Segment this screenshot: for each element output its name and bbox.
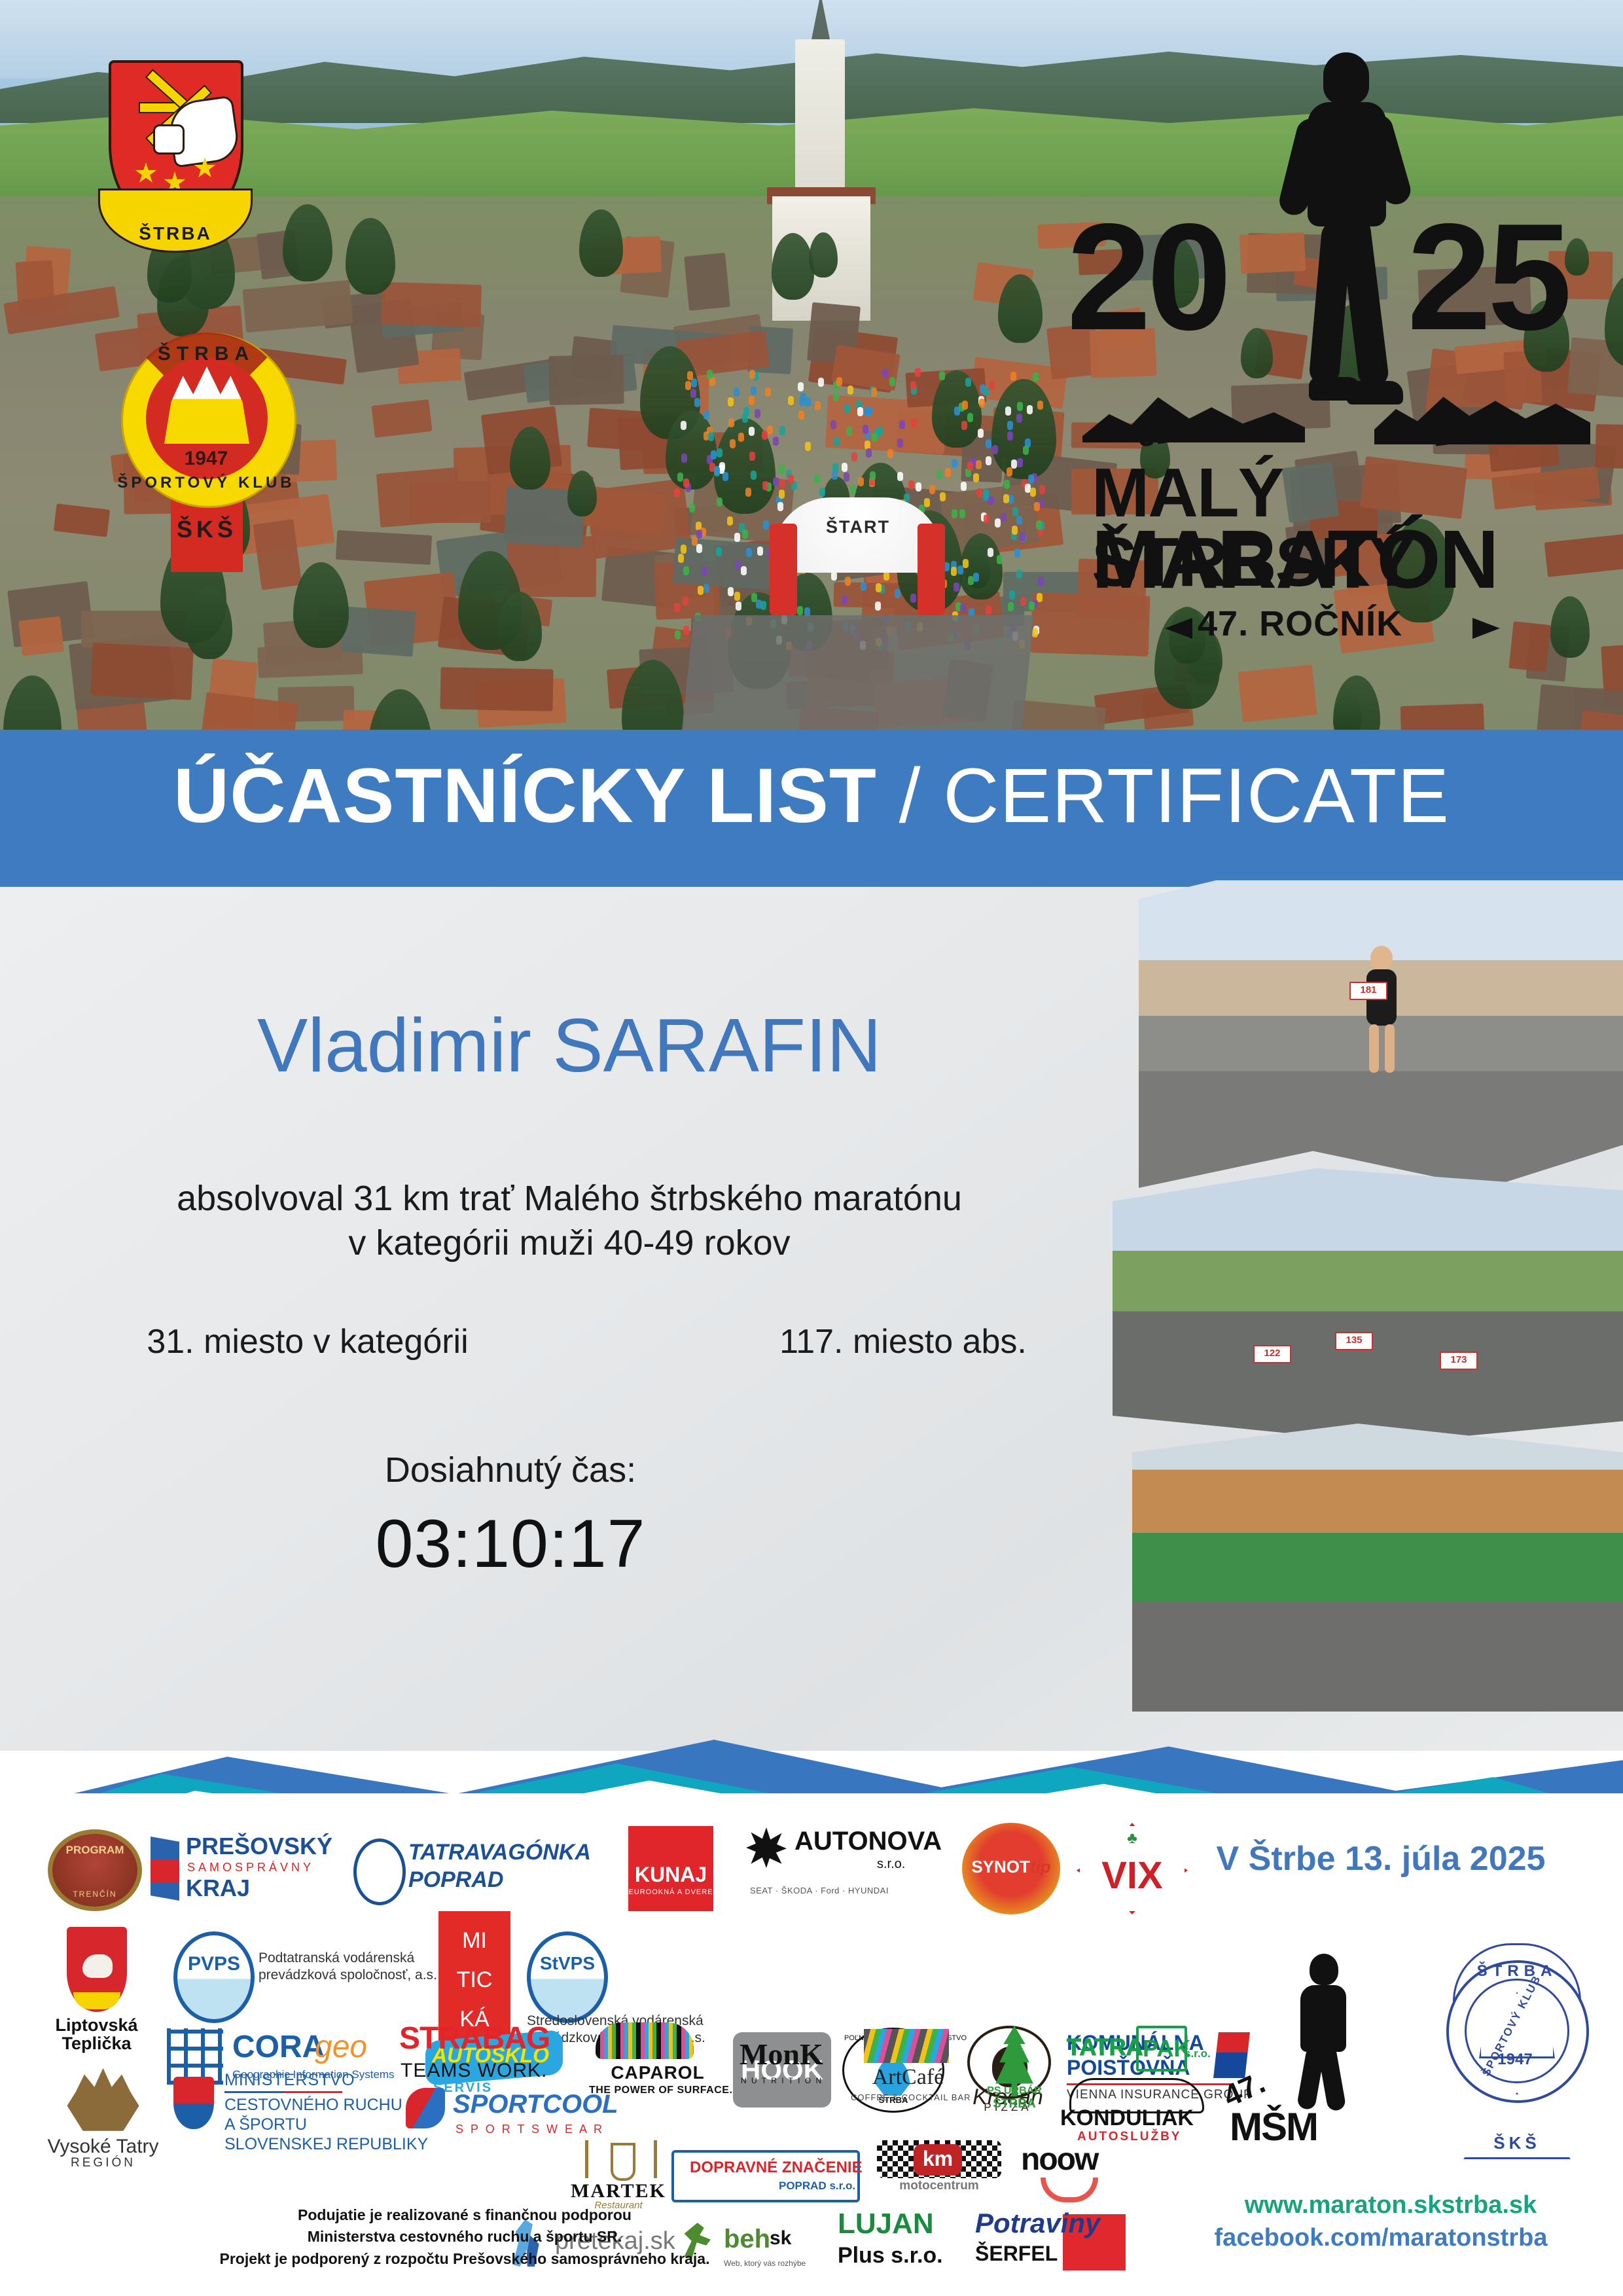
crowd-runner [717, 497, 722, 507]
crowd-runner [876, 583, 882, 592]
sponsor-oval-mark: PROGRAMTRENČÍN [48, 1829, 142, 1911]
crowd-runner [988, 496, 994, 505]
crowd-runner [762, 481, 768, 490]
crowd-runner [728, 587, 734, 596]
crowd-runner [846, 427, 852, 436]
crowd-runner [742, 529, 748, 539]
crowd-runner [704, 410, 709, 420]
crowd-runner [1029, 601, 1035, 611]
crowd-runner [683, 566, 689, 575]
crowd-runner [995, 518, 1001, 528]
crowd-runner [858, 477, 864, 486]
crowd-runner [997, 555, 1003, 564]
crowd-runner [910, 381, 916, 390]
crowd-runner [805, 397, 811, 406]
sponsor-name: Liptovská [55, 2016, 137, 2034]
sponsor-logo-sportcool-sportswear: SPORTCOOLS P O R T S W E A R [406, 2088, 569, 2150]
sks-bottom-tab: ŠKŠ [171, 500, 243, 572]
crowd-runner [984, 514, 990, 524]
crowd-runner [742, 414, 748, 423]
crowd-runner [745, 488, 751, 497]
crowd-runner [976, 488, 982, 497]
banner-title: ÚČASTNÍCKY LIST / CERTIFICATE [0, 751, 1623, 840]
crowd-runner [910, 594, 916, 603]
rooftop [684, 253, 730, 311]
crowd-runner [1008, 602, 1014, 611]
sponsor-name: STRABAG [399, 2022, 550, 2055]
crowd-runner [962, 401, 968, 410]
crowd-runner [1004, 480, 1010, 489]
sponsor-name-part: TIC [438, 1969, 510, 1992]
crest-shield [67, 1927, 127, 2012]
crowd-runner [961, 421, 967, 430]
sponsor-subtitle: AUTOSLUŽBY [1077, 2130, 1181, 2144]
sponsor-subtitle: ŠTRBA [969, 2098, 1060, 2111]
sponsor-logo-program-trencin: PROGRAMTRENČÍN [52, 1829, 137, 1911]
sponsor-subtitle: N U T R I T I O N [741, 2077, 823, 2085]
swoosh-icon [406, 2088, 445, 2128]
crowd-runner [704, 584, 709, 593]
achievement-line-2: v kategórii muži 40-49 rokov [39, 1223, 1099, 1263]
funding-note-line: Projekt je podporený z rozpočtu Prešovsk… [39, 2248, 890, 2270]
crowd-runner [833, 392, 839, 401]
crowd-runner [847, 386, 853, 395]
sponsor-subtitle: SAMOSPRÁVNY [187, 1861, 314, 1874]
crowd-runner [978, 429, 984, 438]
sponsor-logo-pvps: PVPSPodtatranská vodárenskáprevádzková s… [173, 1928, 409, 2029]
cutlery-icon [585, 2140, 657, 2178]
crowd-runner [728, 418, 734, 427]
crowd-runner [1023, 446, 1029, 455]
crowd-runner [1016, 414, 1022, 423]
crowd-runner [696, 544, 702, 553]
seal-bottom-label: ŠKŠ [1465, 2133, 1569, 2153]
banner-title-bold: ÚČASTNÍCKY LIST [173, 753, 877, 839]
crowd-runner [683, 626, 689, 635]
crowd-runner [746, 548, 752, 557]
crowd-runner [683, 478, 689, 488]
sponsor-logo-stvps: StVPSStredoslovenská vodárenskáprevádzko… [527, 1928, 743, 2032]
sponsor-name: Vysoké Tatry [47, 2136, 158, 2157]
smile-icon [1041, 2178, 1098, 2202]
crest-ribbon: ŠTRBA [98, 188, 253, 253]
crowd-runner [986, 605, 991, 615]
crowd-runner [877, 427, 883, 436]
sponsor-subtitle: TEAMS WORK. [401, 2060, 547, 2081]
runner-icon [1286, 1954, 1358, 2104]
event-date: V Štrbe 13. júla 2025 [1171, 1839, 1590, 1878]
red-box: KUNAJEUROOKNÁ A DVERE [628, 1826, 713, 1911]
crowd-runner [916, 482, 921, 492]
sponsor-name: MARTEK [563, 2181, 674, 2202]
sponsor-name: AUTONOVA [794, 1827, 942, 1855]
crowd-runner [1039, 485, 1045, 494]
funding-note: Podujatie je realizované s finančnou pod… [39, 2204, 890, 2270]
photo-finish-line [1132, 1424, 1623, 1712]
crowd-runner [698, 586, 704, 595]
crowd-runner [1037, 593, 1043, 602]
crowd-runner [939, 371, 945, 380]
crowd-runner [961, 482, 967, 491]
crowd-runner [845, 577, 851, 586]
facebook-url[interactable]: facebook.com/maratonstrba [1152, 2224, 1610, 2252]
sponsor-subtitle-2: A ŠPORTU [224, 2116, 307, 2133]
crowd-runner [851, 452, 857, 461]
sponsor-name: MINISTERSTVO [224, 2072, 355, 2089]
crowd-runner [751, 593, 757, 602]
crowd-runner [1038, 577, 1044, 586]
crowd-runner [818, 378, 824, 387]
crowd-runner [685, 381, 691, 390]
oval-emblem [353, 1839, 406, 1905]
crowd-runner [1027, 405, 1033, 414]
sponsor-subtitle-2: KRAJ [186, 1876, 250, 1901]
crowd-runner [678, 554, 684, 563]
crowd-runner [929, 485, 935, 494]
achievement-line-1: absolvoval 31 km trať Malého štrbského m… [39, 1178, 1099, 1219]
sponsor-logo-vysoke-tatry-region: Vysoké TatryREGIÓN [46, 2058, 160, 2179]
website-url[interactable]: www.maraton.skstrba.sk [1171, 2191, 1610, 2219]
crowd-runner [830, 420, 836, 429]
crowd-runner [863, 425, 868, 434]
crowd-runner [779, 426, 785, 435]
sponsor-name: PVPS [177, 1954, 251, 1975]
arrow-left-icon [1165, 618, 1192, 639]
sks-year: 1947 [108, 448, 304, 470]
place-in-category: 31. miesto v kategórii [79, 1322, 537, 1361]
crowd-runner [992, 445, 998, 454]
crowd-runner [965, 378, 971, 387]
certificate-page: ŠTART ŠTRBA ŠKŠ ŠTRBA 1947 ŠPORTOVÝ KLUB… [0, 0, 1623, 2296]
sponsor-name: MonK [740, 2039, 823, 2070]
crowd-runner [767, 425, 773, 435]
sponsor-subtitle: EUROOKNÁ A DVERE [628, 1889, 713, 1897]
crowd-runner [870, 471, 876, 480]
sponsor-logo-strabag: STRABAGTEAMS WORK. [399, 2022, 563, 2094]
sponsor-name: VIX [1080, 1856, 1185, 1896]
crowd-runner [1005, 406, 1011, 416]
crowd-runner [831, 571, 837, 581]
marathon-name-line2: MARATÓN [1092, 518, 1498, 601]
time-label: Dosiahnutý čas: [183, 1450, 838, 1490]
sponsor-name-part: MI [438, 1929, 510, 1953]
crowd-runner [924, 498, 930, 507]
crowd-runner [908, 480, 914, 490]
seal-year: 1947 [1433, 2051, 1597, 2069]
sks-club-logo: ŠKŠ ŠTRBA 1947 ŠPORTOVÝ KLUB [108, 306, 304, 568]
crowd-runner [716, 547, 722, 556]
sponsor-name: TATRAVAGÓNKA [408, 1841, 591, 1865]
crowd-runner [1007, 431, 1013, 440]
funding-note-line: Ministerstva cestovného ruchu a športu S… [39, 2226, 890, 2248]
crowd-runner [1009, 590, 1015, 600]
crowd-runner [1017, 402, 1023, 411]
rooftop [372, 399, 433, 438]
crest-base [73, 1992, 120, 2009]
sponsor-subtitle-2: s.r.o. [1185, 2048, 1211, 2060]
sponsor-logo-dopravne-znacenie-poprad: DOPRAVNÉ ZNAČENIEPOPRAD s.r.o. [674, 2150, 857, 2202]
sks-seal-logo: ŠTRBA 1947 ŠPORTOVÝ KLUB ŠKŠ [1433, 1941, 1597, 2163]
crowd-runner [788, 475, 794, 484]
crowd-runner [694, 398, 700, 407]
sponsor-logo-tatravagonka-poprad: TATRAVAGÓNKAPOPRAD [353, 1836, 543, 1901]
sponsor-subtitle-3: SLOVENSKEJ REPUBLIKY [224, 2136, 428, 2153]
sponsor-logo-synottip: SYNOTtip [962, 1823, 1060, 1914]
start-gate-label: ŠTART [826, 517, 890, 537]
crowd-runner [779, 490, 785, 499]
crowd-runner [763, 520, 769, 529]
crowd-runner [1037, 401, 1043, 410]
photo-collage: 181 122 135 173 [1113, 880, 1623, 1712]
bib-number: 181 [1349, 982, 1387, 1000]
crowd-runner [959, 509, 965, 518]
crowd-runner [895, 589, 901, 598]
main-road [681, 615, 1034, 743]
crowd-runner [677, 473, 683, 482]
crowd-runner [674, 488, 680, 497]
crowd-runner [973, 573, 979, 582]
crowd-runner [899, 420, 905, 429]
finish-time-value: 03:10:17 [183, 1505, 838, 1583]
crowd-runner [727, 516, 733, 526]
sponsor-logo-kunaj: KUNAJEUROOKNÁ A DVERE [628, 1826, 713, 1911]
crowd-runner [711, 450, 717, 459]
crowd-runner [844, 404, 850, 413]
crowd-runner [728, 397, 734, 406]
marathon-edition: 47. ROČNÍK [1198, 603, 1402, 644]
crowd-runner [805, 442, 811, 451]
sponsor-subtitle: PAK [1143, 2036, 1190, 2061]
sponsor-logo-martek-restaurant: MARTEKRestaurant [563, 2140, 674, 2212]
crowd-runner [762, 431, 768, 440]
crowd-runner [832, 471, 838, 480]
starburst-icon [746, 1827, 787, 1868]
participant-name: Vladimir SARAFIN [39, 1001, 1099, 1089]
crowd-runner [967, 461, 973, 471]
marathon-logo: 20 25 31 km 10 km MALÝ ŠTRBSKÝ MARATÓN 4… [1067, 46, 1616, 609]
crowd-runner [940, 492, 946, 501]
crowd-runner [1020, 597, 1026, 606]
crowd-runner [777, 502, 783, 511]
crowd-runner [779, 465, 785, 474]
sponsor-logo-ministerstvo: MINISTERSTVOCESTOVNÉHO RUCHUA ŠPORTUSLOV… [173, 2072, 396, 2157]
crowd-runner [815, 401, 821, 410]
banner-title-regular: CERTIFICATE [943, 753, 1450, 839]
crowd-runner [797, 606, 803, 615]
crowd-runner [986, 439, 991, 448]
photo-finisher: 181 [1139, 880, 1623, 1188]
sponsor-name: ArtCafé [851, 2066, 965, 2089]
rooftop [18, 617, 63, 656]
sponsor-subtitle: tip [1030, 1857, 1051, 1876]
crowd-runner [702, 567, 707, 576]
crowd-runner [945, 468, 951, 477]
crowd-runner [734, 533, 740, 542]
crowd-runner [1001, 512, 1007, 522]
sponsor-name: CORA [232, 2031, 325, 2064]
sponsor-subtitle: POPRAD [408, 1869, 503, 1892]
crowd-runner [760, 601, 766, 610]
lamb-icon [82, 1954, 113, 1978]
rooftop [381, 282, 482, 327]
crowd-runner [751, 386, 757, 395]
sks-abbrev: ŠKŠ [171, 516, 243, 543]
crowd-runner [973, 473, 979, 482]
crowd-runner [814, 475, 820, 484]
crowd-runner [952, 459, 957, 468]
crowd-runner [690, 389, 696, 398]
msm-edition-logo: 47. MŠM [1214, 1947, 1410, 2163]
arrow-right-icon [1472, 618, 1500, 639]
crowd-runner [683, 596, 688, 605]
photo-uphill-group: 122 135 173 [1113, 1168, 1623, 1443]
crowd-runner [1007, 467, 1012, 476]
crowd-runner [1007, 421, 1013, 430]
crowd-runner [1003, 494, 1009, 503]
crowd-runner [1016, 516, 1022, 525]
mountain-sun-icon [67, 2068, 139, 2131]
sponsor-subtitle: CESTOVNÉHO RUCHU [224, 2096, 402, 2113]
banner-title-separator: / [877, 753, 943, 839]
crowd-runner [708, 432, 714, 441]
sponsor-logo-presovsky-kraj: PREŠOVSKÝSAMOSPRÁVNYKRAJ [151, 1833, 334, 1905]
crowd-runner [707, 370, 713, 379]
crowd-runner [681, 545, 687, 554]
crowd-runner [1034, 502, 1040, 511]
crowd-runner [734, 387, 740, 397]
slovak-coat-of-arms-icon [173, 2077, 214, 2129]
bib-number: 122 [1253, 1345, 1291, 1363]
sponsor-subtitle: TRENČÍN [52, 1890, 137, 1899]
sponsor-name: SPORTCOOL [453, 2090, 618, 2118]
rooftop [336, 530, 432, 565]
sponsor-subtitle: ŠERFEL [975, 2243, 1058, 2265]
sponsor-logo-tatrapak: TATRAPAKs.r.o. [1067, 2026, 1204, 2072]
funding-note-line: Podujatie je realizované s finančnou pod… [39, 2204, 890, 2226]
crowd-runner [954, 583, 959, 592]
crowd-runner [675, 630, 681, 639]
rooftop [410, 481, 491, 523]
crowd-runner [1014, 548, 1020, 558]
sponsor-name: StVPS [531, 1954, 604, 1973]
water-oval-mark: StVPS [527, 1931, 608, 2023]
km-badge: km [914, 2144, 962, 2176]
crowd-runner [986, 456, 991, 465]
crowd-runner [755, 409, 760, 418]
oval-mark: SYNOTtip [962, 1823, 1060, 1914]
sponsor-subtitle: motocentrum [877, 2179, 1001, 2193]
crowd-runner [976, 460, 982, 469]
crowd-runner [844, 473, 849, 482]
bib-number: 173 [1440, 1352, 1478, 1370]
logo-year-right: 25 [1407, 213, 1568, 342]
crowd-runner [963, 559, 969, 568]
sponsor-subtitle-2: prevádzková spoločnosť, a.s. [259, 1968, 437, 1982]
crowd-runner [836, 377, 842, 386]
crowd-runner [1028, 475, 1034, 484]
crowd-runner [967, 413, 973, 422]
strba-municipal-crest: ŠTRBA [98, 60, 249, 257]
sponsor-name: PROGRAM [52, 1844, 137, 1856]
logo-year-left: 20 [1067, 213, 1228, 342]
crowd-runner [897, 472, 903, 481]
crowd-runner [749, 452, 755, 461]
crowd-runner [749, 370, 755, 379]
seal-bottom-triangle: ŠKŠ [1463, 2092, 1571, 2159]
crowd-runner [788, 396, 794, 405]
runner-silhouette-icon [1289, 46, 1400, 439]
crowd-runner [773, 437, 779, 446]
crowd-runner [911, 418, 917, 427]
crowd-runner [915, 368, 921, 377]
sponsor-logo-artcafe: ArtCaféCOFFEE & COCKTAIL BAR [851, 2029, 965, 2108]
crowd-runner [717, 448, 722, 457]
sponsor-logo-noow: noow [1021, 2144, 1113, 2202]
crowd-runner [1016, 569, 1022, 579]
crowd-runner [681, 421, 687, 430]
crowd-runner [882, 368, 888, 378]
crest-fist [153, 124, 185, 154]
crowd-runner [889, 377, 895, 386]
crowd-runner [799, 397, 805, 406]
label-strip: SYNOTtip [962, 1858, 1060, 1876]
colorbars-icon [864, 2029, 949, 2063]
sponsor-subtitle: REGIÓN [71, 2157, 135, 2170]
glass-icon [611, 2143, 635, 2181]
sponsor-name: TATRA [1067, 2035, 1143, 2060]
crowd-runner [674, 603, 680, 612]
bib-number: 135 [1335, 1332, 1373, 1350]
crowd-runner [681, 454, 687, 463]
crowd-runner [692, 537, 698, 546]
crowd-runner [866, 406, 872, 416]
crowd-runner [1036, 520, 1042, 529]
crowd-runner [857, 407, 863, 416]
sponsor-name: KONDULIAK [1060, 2107, 1194, 2130]
sponsor-name: Potraviny [975, 2209, 1100, 2238]
crowd-runner [798, 382, 804, 391]
sponsor-name: KUNAJ [628, 1864, 713, 1886]
club-icon: ♣ [1080, 1830, 1185, 1846]
crest-ribbon-label: ŠTRBA [100, 223, 251, 244]
rooftop [440, 667, 553, 711]
crowd-runner [689, 503, 695, 512]
crowd-runner [842, 596, 847, 605]
sponsor-subtitle: S P O R T S W E A R [455, 2123, 604, 2136]
crowd-runner [687, 371, 693, 380]
crowd-runner [1020, 532, 1026, 541]
sponsor-name: PS URBÁR [969, 2086, 1060, 2097]
sponsor-logo-liptovska-teplicka: LiptovskáTeplička [49, 1924, 144, 2055]
rooftop [90, 643, 193, 700]
crowd-runner [834, 437, 840, 446]
crowd-runner [1010, 372, 1016, 381]
crowd-runner [960, 603, 966, 613]
msm-abbrev: MŠM [1230, 2104, 1317, 2149]
crowd-runner [1012, 526, 1018, 535]
sponsor-subtitle: s.r.o. [877, 1857, 905, 1871]
crowd-runner [730, 439, 736, 448]
crowd-runner [883, 571, 889, 581]
sponsor-logo-km-motocentrum: kmmotocentrum [877, 2140, 1001, 2202]
crowd-runner [734, 592, 740, 601]
crowd-runner [736, 601, 741, 611]
crowd-runner [751, 471, 757, 480]
sponsor-subtitle: Teplička [62, 2034, 131, 2053]
crowd-runner [951, 567, 957, 576]
crowd-runner [741, 566, 747, 575]
sponsor-logo-autonova: AUTONOVAs.r.o.SEAT · ŠKODA · Ford · HYUN… [746, 1826, 936, 1911]
